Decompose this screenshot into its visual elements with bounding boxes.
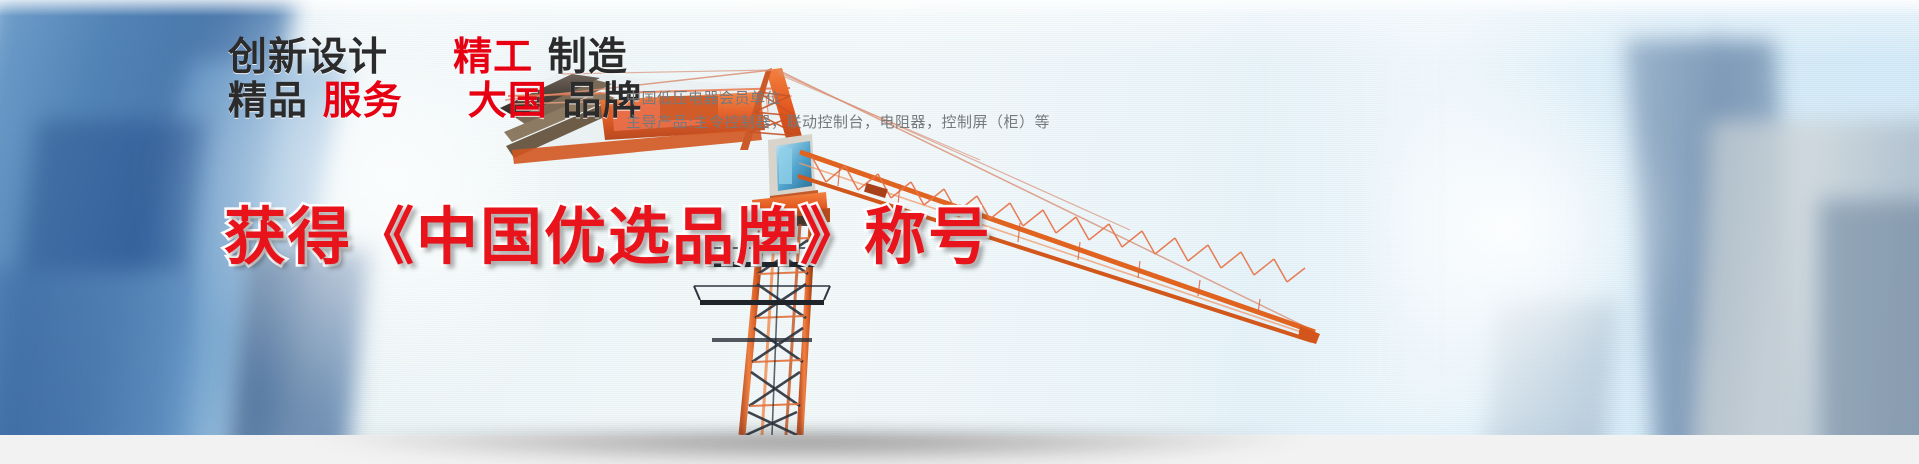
subtext-membership: 中国低压电器会员单位 (626, 86, 1050, 110)
subtext-products: 主导产品:主令控制器，联动控制台，电阻器，控制屏（柜）等 (626, 110, 1050, 134)
subtext-block: 中国低压电器会员单位 主导产品:主令控制器，联动控制台，电阻器，控制屏（柜）等 (626, 86, 1050, 135)
slogan-line2-part3: 大国 (468, 79, 548, 124)
slogan-line1-part3: 制造 (548, 35, 628, 80)
slogan-line-2: 精品 服务 大国 品牌 (228, 80, 642, 124)
slogan-line1-part1: 创新设计 (228, 35, 388, 80)
banner-photo-stage: 创新设计 精工 制造 精品 服务 大国 品牌 中国低压电器会员单位 主导产品:主… (0, 0, 1919, 435)
banner-headline: 获得《中国优选品牌》称号 (224, 186, 992, 276)
slogan-line2-part2: 服务 (323, 79, 403, 124)
banner-footer-strip (0, 435, 1919, 464)
slogan-line1-part2: 精工 (453, 35, 533, 80)
promo-banner: 创新设计 精工 制造 精品 服务 大国 品牌 中国低压电器会员单位 主导产品:主… (0, 0, 1919, 464)
slogan-block: 创新设计 精工 制造 精品 服务 大国 品牌 (228, 36, 642, 123)
slogan-line-1: 创新设计 精工 制造 (228, 36, 642, 80)
slogan-line2-part1: 精品 (228, 79, 308, 124)
